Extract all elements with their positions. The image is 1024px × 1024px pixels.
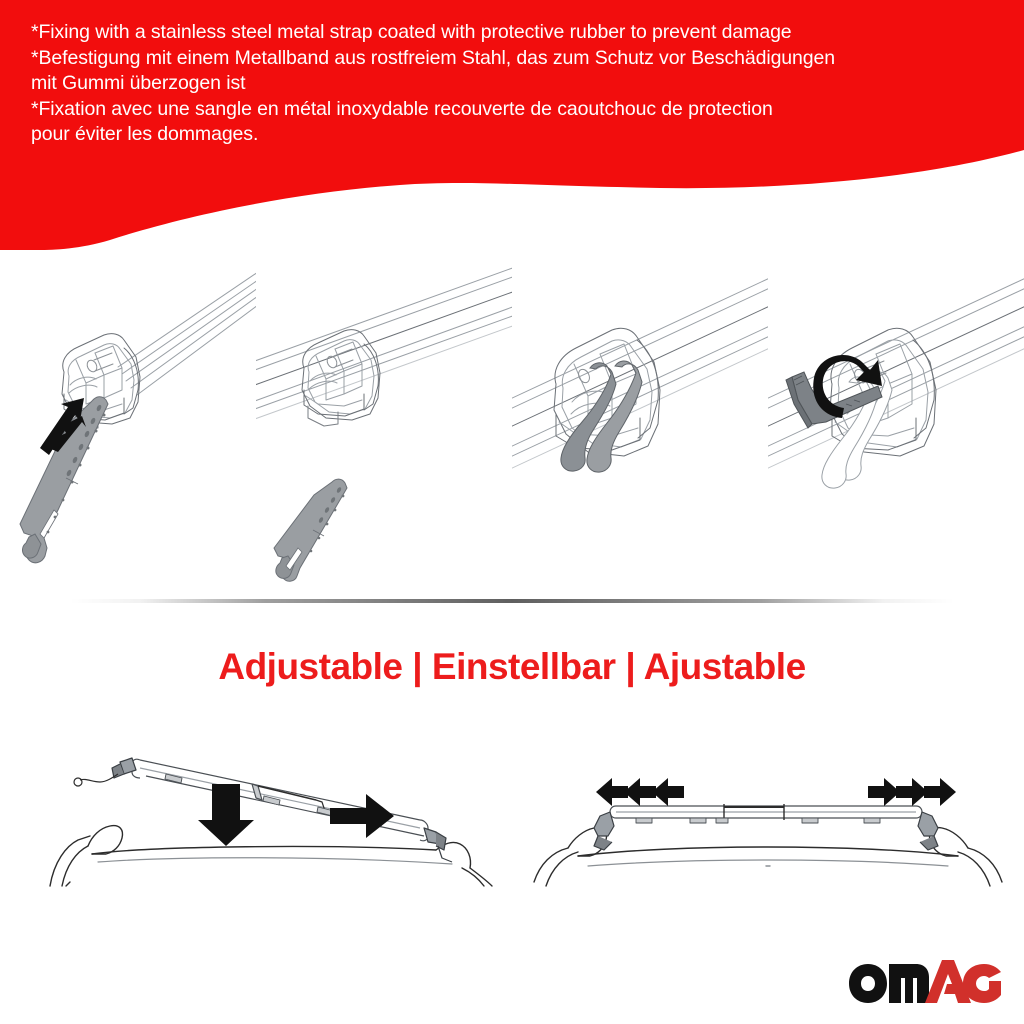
down-arrow-icon bbox=[198, 784, 254, 846]
logo-letter-m bbox=[889, 964, 929, 1003]
adjustable-heading: Adjustable | Einstellbar | Ajustable bbox=[0, 646, 1024, 688]
install-step-4 bbox=[768, 252, 1024, 597]
section-divider bbox=[70, 599, 954, 603]
product-infographic-page: *Fixing with a stainless steel metal str… bbox=[0, 0, 1024, 1024]
logo-letter-c bbox=[963, 964, 1001, 1003]
metal-strap-part bbox=[274, 479, 347, 581]
install-step-4-illustration bbox=[768, 252, 1024, 597]
roof-view-left bbox=[0, 716, 512, 936]
logo-letter-o bbox=[849, 964, 887, 1003]
right-arrow-icon bbox=[330, 794, 394, 838]
roof-view-left-illustration bbox=[0, 716, 512, 936]
triple-left-arrows-icon bbox=[596, 778, 684, 806]
omac-logo-mark bbox=[848, 958, 1003, 1010]
red-banner: *Fixing with a stainless steel metal str… bbox=[0, 0, 1024, 250]
roof-view-right-illustration bbox=[512, 716, 1024, 936]
install-step-1-illustration bbox=[0, 252, 256, 597]
metal-strap-part bbox=[561, 361, 642, 472]
installation-steps-strip bbox=[0, 252, 1024, 597]
roof-view-right bbox=[512, 716, 1024, 936]
roof-adjust-strip bbox=[0, 716, 1024, 936]
omac-logo bbox=[848, 958, 1003, 1010]
install-step-2 bbox=[256, 252, 512, 597]
install-step-3-illustration bbox=[512, 252, 768, 597]
install-step-3 bbox=[512, 252, 768, 597]
install-step-1 bbox=[0, 252, 256, 597]
triple-right-arrows-icon bbox=[868, 778, 956, 806]
banner-description-text: *Fixing with a stainless steel metal str… bbox=[31, 20, 1006, 148]
install-step-2-illustration bbox=[256, 252, 512, 597]
